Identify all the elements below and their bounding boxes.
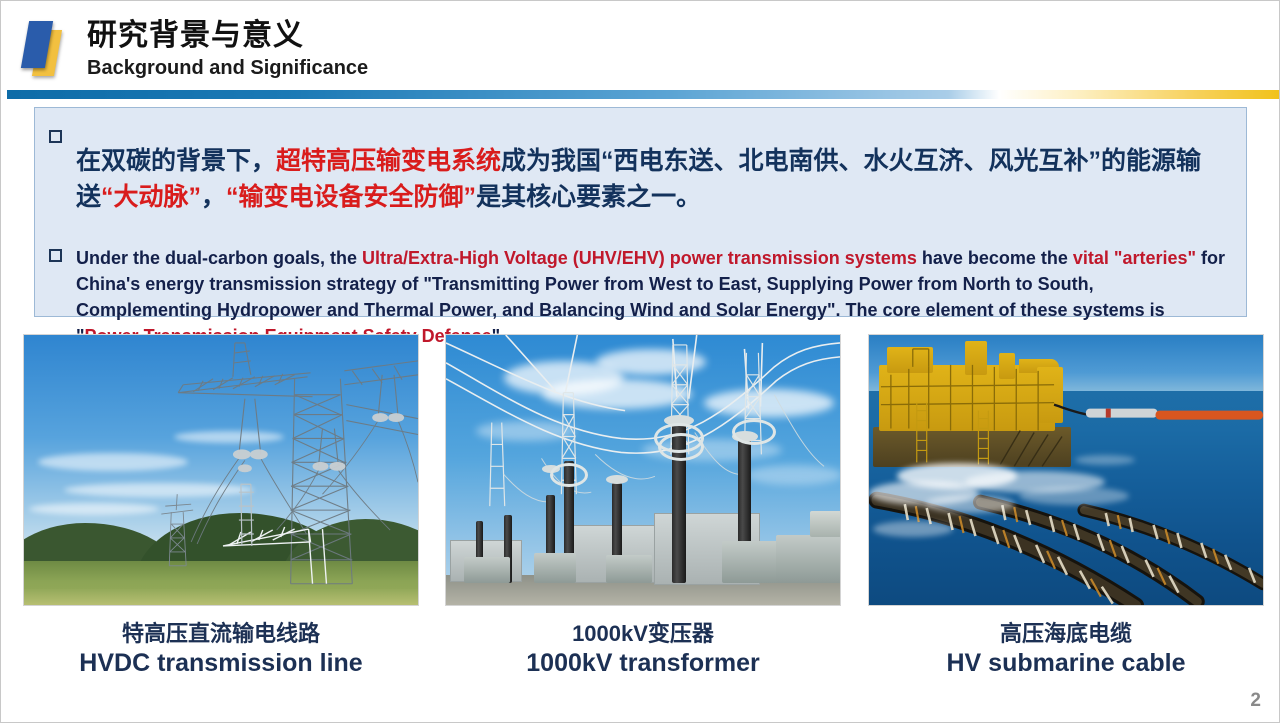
hollow-square-bullet-icon (49, 249, 62, 262)
figure-caption-cn: 特高压直流输电线路 (23, 620, 419, 648)
body-phrase: Under the dual-carbon goals, the (76, 248, 362, 268)
slide-canvas: 研究背景与意义 Background and Significance 在双碳的… (0, 0, 1280, 723)
page-title: 研究背景与意义 Background and Significance (87, 19, 368, 80)
body-phrase: ， (201, 183, 226, 211)
figure-caption-cn: 高压海底电缆 (868, 620, 1264, 648)
highlighted-phrase: vital "arteries" (1073, 248, 1196, 268)
figure-transformer-substation: 1000kV变压器 1000kV transformer (445, 334, 841, 679)
page-title-cn: 研究背景与意义 (87, 19, 368, 54)
figure-caption: 特高压直流输电线路 HVDC transmission line (23, 620, 419, 679)
substation-equipment (534, 553, 576, 583)
page-title-en: Background and Significance (87, 56, 368, 80)
figure-caption: 高压海底电缆 HV submarine cable (868, 620, 1264, 679)
substation-equipment (722, 541, 784, 583)
body-phrase: 是其核心要素之一。 (476, 183, 701, 211)
sea-foam (1075, 455, 1135, 465)
corona-ring (658, 433, 704, 461)
highlighted-phrase: “输变电设备安全防御” (226, 183, 476, 211)
corona-ring (550, 463, 588, 487)
body-phrase: have become the (917, 248, 1073, 268)
bushing-cap (606, 475, 628, 484)
header-divider-gradient (7, 90, 1279, 99)
bullet-text-cn: 在双碳的背景下，超特高压输变电系统成为我国“西电东送、北电南供、水火互济、风光互… (76, 118, 1232, 241)
figure-submarine-cable: 高压海底电缆 HV submarine cable (868, 334, 1264, 679)
figure-caption-en: HV submarine cable (868, 648, 1264, 679)
substation-equipment (464, 557, 510, 583)
corona-ring (732, 419, 776, 445)
page-number: 2 (1250, 690, 1261, 712)
photo-transformer-substation (445, 334, 841, 606)
photo-submarine-cable (868, 334, 1264, 606)
sea-foam (1019, 487, 1129, 505)
figure-caption-cn: 1000kV变压器 (445, 620, 841, 648)
highlighted-phrase: Ultra/Extra-High Voltage (UHV/EHV) power… (362, 248, 917, 268)
paragraph-cn: 在双碳的背景下，超特高压输变电系统成为我国“西电东送、北电南供、水火互济、风光互… (76, 143, 1232, 216)
substation-equipment (810, 511, 841, 537)
content-textbox: 在双碳的背景下，超特高压输变电系统成为我国“西电东送、北电南供、水火互济、风光互… (34, 107, 1247, 317)
bullet-item-cn: 在双碳的背景下，超特高压输变电系统成为我国“西电东送、北电南供、水火互济、风光互… (49, 118, 1232, 241)
substation-equipment (776, 535, 841, 583)
photo-hvdc-transmission-line (23, 334, 419, 606)
slide-header: 研究背景与意义 Background and Significance (1, 1, 1280, 89)
highlighted-phrase: 超特高压输变电系统 (276, 147, 501, 175)
figure-caption-en: HVDC transmission line (23, 648, 419, 679)
sea-foam (925, 495, 1015, 513)
highlighted-phrase: “大动脉” (101, 183, 201, 211)
figure-caption-en: 1000kV transformer (445, 648, 841, 679)
hollow-square-bullet-icon (49, 130, 62, 143)
transmission-tower-illustration (24, 335, 418, 606)
substation-equipment (606, 555, 652, 583)
figure-hvdc-transmission-line: 特高压直流输电线路 HVDC transmission line (23, 334, 419, 679)
body-phrase: 在双碳的背景下， (76, 147, 276, 175)
sea-foam (873, 521, 953, 537)
logo-parallelogram-icon (19, 18, 75, 78)
figure-caption: 1000kV变压器 1000kV transformer (445, 620, 841, 679)
